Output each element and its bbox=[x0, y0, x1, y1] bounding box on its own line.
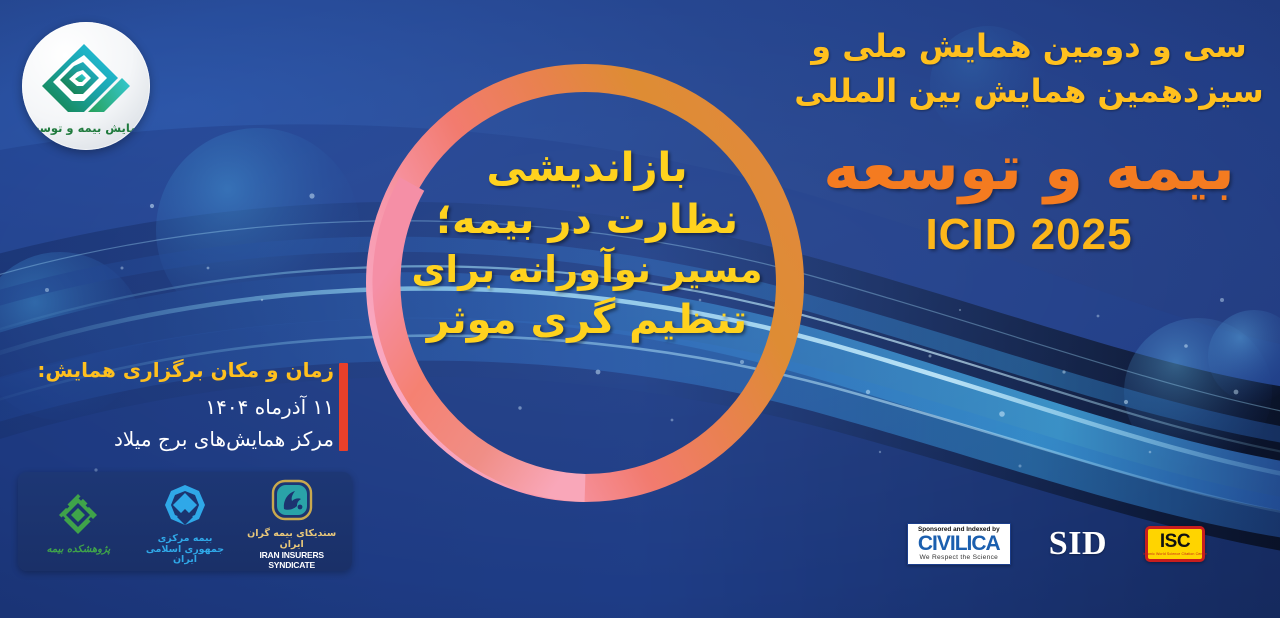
event-venue: مرکز همایش‌های برج میلاد bbox=[96, 425, 334, 454]
civilica-main-text: CIVILICA bbox=[911, 533, 1007, 554]
header-line-1: سی و دومین همایش ملی و bbox=[794, 24, 1264, 69]
header-icid-code: ICID 2025 bbox=[794, 211, 1264, 259]
header-title-block: سی و دومین همایش ملی و سیزدهمین همایش بی… bbox=[794, 24, 1264, 260]
isc-logo-subtext: Islamic World Science Citation Center bbox=[1143, 553, 1207, 557]
civilica-logo: Sponsored and Indexed by CIVILICA We Res… bbox=[907, 523, 1011, 565]
central-insurance-icon bbox=[161, 479, 209, 531]
header-brand-title: بیمه و توسعه bbox=[794, 131, 1264, 205]
red-accent-bar bbox=[339, 363, 348, 451]
syndicate-icon bbox=[270, 474, 314, 526]
central-insurance-caption: بیمه مرکزی جمهوری اسلامی ایران bbox=[134, 534, 236, 566]
slogan-line-2: نظارت در بیمه؛ bbox=[392, 194, 782, 246]
syndicate-caption-fa: سندیکای بیمه گران ایران bbox=[241, 529, 343, 551]
sponsor-strip: سندیکای بیمه گران ایران IRAN INSURERS SY… bbox=[18, 472, 352, 571]
syndicate-caption: سندیکای بیمه گران ایران IRAN INSURERS SY… bbox=[241, 529, 343, 570]
isc-logo: ISC Islamic World Science Citation Cente… bbox=[1145, 526, 1205, 562]
sponsor-iran-insurers-syndicate: سندیکای بیمه گران ایران IRAN INSURERS SY… bbox=[241, 474, 343, 570]
central-insurance-caption-fa: بیمه مرکزی bbox=[134, 534, 236, 545]
sid-logo: SID bbox=[1049, 527, 1107, 561]
civilica-bottom-text: We Respect the Science bbox=[911, 554, 1007, 562]
research-center-caption: پژوهشکده بیمه bbox=[46, 544, 110, 555]
event-date: ۱۱ آذرماه ۱۴۰۴ bbox=[96, 392, 334, 423]
conference-logo: همایش بیمه و توسعه bbox=[22, 22, 150, 150]
sponsor-central-insurance: بیمه مرکزی جمهوری اسلامی ایران bbox=[134, 479, 236, 566]
syndicate-caption-en: IRAN INSURERS SYNDICATE bbox=[241, 551, 343, 570]
indexing-logos: ISC Islamic World Science Citation Cente… bbox=[905, 520, 1205, 568]
conference-logo-caption: همایش بیمه و توسعه bbox=[26, 121, 146, 136]
slogan-line-4: تنظیم گری موثر bbox=[392, 294, 782, 346]
sponsor-insurance-research-center: پژوهشکده بیمه bbox=[27, 489, 129, 555]
slogan-line-1: بازاندیشی bbox=[392, 142, 782, 194]
isc-logo-text: ISC bbox=[1160, 532, 1190, 551]
event-info-block: زمان و مکان برگزاری همایش: ۱۱ آذرماه ۱۴۰… bbox=[96, 358, 334, 454]
slogan-line-3: مسیر نوآورانه برای bbox=[392, 246, 782, 294]
central-insurance-caption-fa2: جمهوری اسلامی ایران bbox=[134, 545, 236, 567]
event-info-title: زمان و مکان برگزاری همایش: bbox=[96, 358, 334, 383]
research-center-caption-fa: پژوهشکده بیمه bbox=[46, 544, 110, 555]
research-center-icon bbox=[55, 489, 101, 541]
conference-banner: بازاندیشی نظارت در بیمه؛ مسیر نوآورانه ب… bbox=[0, 0, 1280, 618]
header-line-2: سیزدهمین همایش بین المللی bbox=[794, 69, 1264, 114]
event-slogan: بازاندیشی نظارت در بیمه؛ مسیر نوآورانه ب… bbox=[392, 142, 782, 346]
